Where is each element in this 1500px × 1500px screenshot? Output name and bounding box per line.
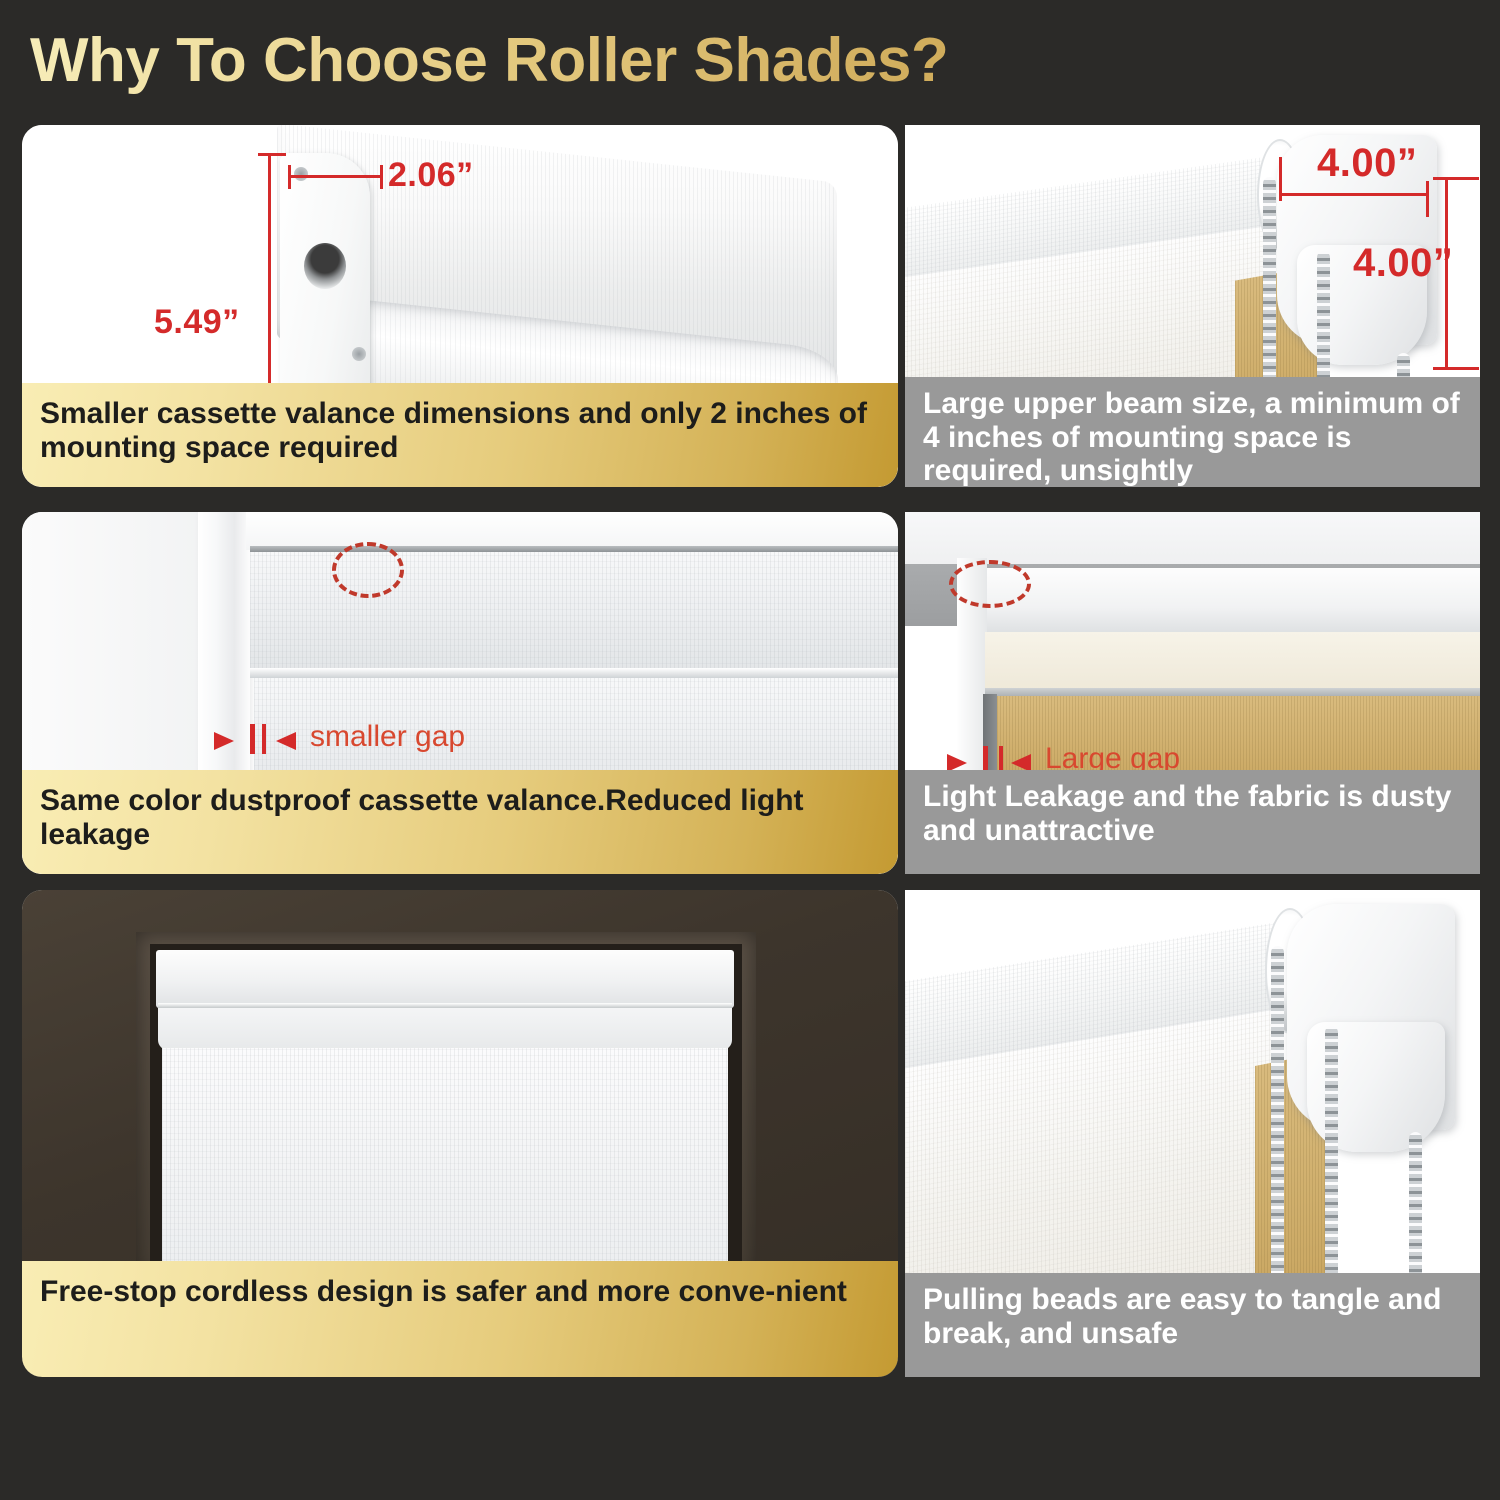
width-dimension-line — [288, 175, 383, 178]
page-title: Why To Choose Roller Shades? — [30, 22, 1130, 100]
caption-con-pull-beads: Pulling beads are easy to tangle and bre… — [905, 1273, 1480, 1377]
panel-pro-cassette-size: 5.49” 2.06” Smaller cassette valance dim… — [22, 125, 898, 487]
smaller-gap-label: smaller gap — [310, 720, 465, 754]
infographic-root: Why To Choose Roller Shades? 5.49” 2.06”… — [0, 0, 1500, 1500]
caption-pro-cassette-size: Smaller cassette valance dimensions and … — [22, 383, 898, 487]
beam-height-dimension-label: 4.00” — [1353, 241, 1453, 286]
beam-width-dimension-label: 4.00” — [1317, 141, 1417, 186]
beam-width-dimension-line — [1279, 193, 1429, 196]
panel-con-beam-size: 4.00” 4.00” Large upper beam size, a min… — [905, 125, 1480, 487]
caption-con-large-gap: Light Leakage and the fabric is dusty an… — [905, 770, 1480, 874]
caption-pro-small-gap: Same color dustproof cassette valance.Re… — [22, 770, 898, 874]
panel-con-pull-beads: Pulling beads are easy to tangle and bre… — [905, 890, 1480, 1377]
panel-pro-small-gap: smaller gap Same color dustproof cassett… — [22, 512, 898, 874]
width-dimension-label: 2.06” — [388, 156, 474, 195]
height-dimension-label: 5.49” — [154, 303, 240, 342]
panel-con-large-gap: Large gap Light Leakage and the fabric i… — [905, 512, 1480, 874]
caption-pro-cordless: Free-stop cordless design is safer and m… — [22, 1261, 898, 1377]
caption-con-beam-size: Large upper beam size, a minimum of 4 in… — [905, 377, 1480, 487]
gap-highlight-circle — [949, 560, 1031, 608]
gap-highlight-circle — [332, 542, 404, 598]
panel-pro-cordless: Free-stop cordless design is safer and m… — [22, 890, 898, 1377]
gap-arrow-left-icon — [276, 732, 296, 750]
gap-arrow-right-icon — [214, 732, 234, 750]
